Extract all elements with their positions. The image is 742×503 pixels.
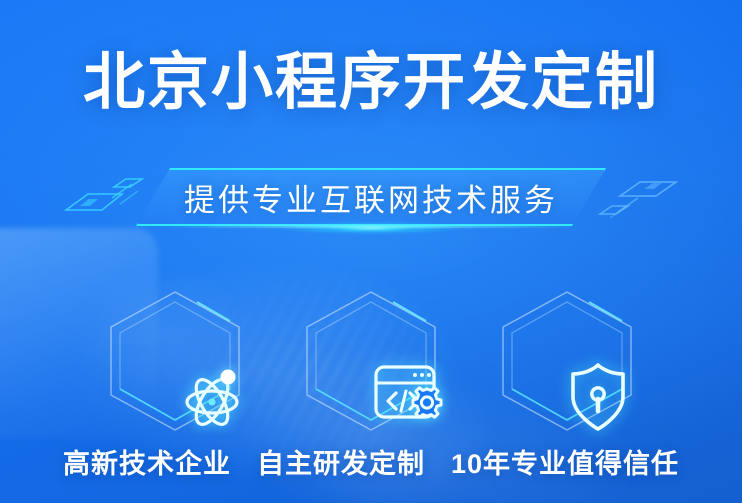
feature-icon-row xyxy=(0,288,742,438)
tech-lines-right-decoration xyxy=(594,174,680,225)
page-title: 北京小程序开发定制 xyxy=(0,47,742,119)
center-lens-flare-streak xyxy=(161,225,581,228)
feature-label-3: 10年专业值得信任 xyxy=(451,442,679,481)
center-lens-flare xyxy=(276,222,466,234)
feature-hexagon-2[interactable] xyxy=(297,288,445,434)
feature-hexagon-1[interactable] xyxy=(101,288,249,434)
feature-label-row: 高新技术企业 自主研发定制 10年专业值得信任 xyxy=(0,440,742,482)
promo-banner: 北京小程序开发定制 提供专业互联网技术服务 xyxy=(0,0,742,503)
subtitle-text: 提供专业互联网技术服务 xyxy=(136,168,606,226)
feature-hexagon-3[interactable] xyxy=(493,288,641,434)
subtitle-banner: 提供专业互联网技术服务 xyxy=(0,168,742,234)
feature-label-2: 自主研发定制 xyxy=(257,442,425,481)
feature-label-1: 高新技术企业 xyxy=(63,442,231,481)
